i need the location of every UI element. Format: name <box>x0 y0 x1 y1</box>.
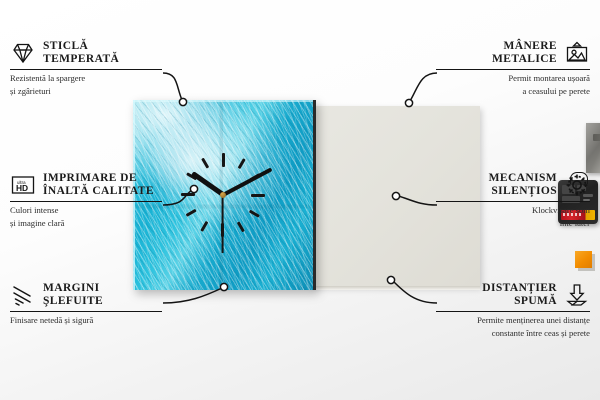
connector-hangers <box>410 73 437 101</box>
feature-rule <box>436 69 590 70</box>
feature-title-line2: METALICE <box>492 53 557 66</box>
feature-sub-line2: și imagine clară <box>10 218 162 228</box>
diamond-icon <box>10 40 36 66</box>
ultra-hd-icon: ultra HD <box>10 172 36 198</box>
feature-sub-line1: Finisare netedă și sigură <box>10 315 162 325</box>
feature-glass: STICLĂ TEMPERATĂ Rezistentă la spargere … <box>10 40 162 97</box>
feature-title-line2: ŞLEFUITE <box>43 295 103 308</box>
feature-title-line1: DISTANȚIER <box>482 282 557 295</box>
product-composite <box>120 100 480 295</box>
feature-spacer: DISTANȚIER SPUMĂ Permite menținerea unei… <box>436 282 590 339</box>
feature-sub-line1: Culori intense <box>10 205 162 215</box>
hanger-sheen <box>586 123 600 173</box>
down-arrow-pad-icon <box>564 282 590 308</box>
feature-mechanism: MECANISM SILENȚIOS Klockvisare som inte … <box>436 172 590 229</box>
feature-rule <box>436 201 590 202</box>
connector-glass <box>163 73 182 100</box>
feature-rule <box>436 311 590 312</box>
feature-print: ultra HD IMPRIMARE DE ÎNALTĂ CALITATE Cu… <box>10 172 162 229</box>
infographic-canvas: STICLĂ TEMPERATĂ Rezistentă la spargere … <box>0 0 600 400</box>
picture-hanger-icon <box>564 40 590 66</box>
feature-sub-line2: și zgârieturi <box>10 86 162 96</box>
feature-sub-line2: constante între ceas și perete <box>436 328 590 338</box>
svg-text:HD: HD <box>16 183 28 193</box>
feature-title-line2: SPUMĂ <box>482 295 557 308</box>
feature-rule <box>10 69 162 70</box>
feature-title-line1: IMPRIMARE DE <box>43 172 154 185</box>
feature-sub-line2: a ceasului pe perete <box>436 86 590 96</box>
feature-sub-line1: Permite menținerea unei distanțe <box>436 315 590 325</box>
clock-center-pin <box>220 192 226 198</box>
feature-title-line1: MÂNERE <box>492 40 557 53</box>
metal-hanger-plate <box>586 123 600 173</box>
feature-sub-line1: Rezistentă la spargere <box>10 73 162 83</box>
feature-title-line1: MARGINI <box>43 282 103 295</box>
orange-foam-spacer <box>575 251 592 268</box>
feature-title-line1: STICLĂ <box>43 40 119 53</box>
feature-hangers: MÂNERE METALICE Permit montarea ușoară a… <box>436 40 590 97</box>
feature-sub-line1: Klockvisare som <box>436 205 590 215</box>
feature-rule <box>10 311 162 312</box>
feature-rule <box>10 201 162 202</box>
second-hand <box>222 195 224 253</box>
gear-icon <box>564 172 590 198</box>
polished-edge-icon <box>10 282 36 308</box>
feature-edges: MARGINI ŞLEFUITE Finisare netedă și sigu… <box>10 282 162 325</box>
hanger-slot <box>593 134 600 141</box>
feature-title-line2: ÎNALTĂ CALITATE <box>43 185 154 198</box>
feature-sub-line1: Permit montarea ușoară <box>436 73 590 83</box>
feature-title-line2: TEMPERATĂ <box>43 53 119 66</box>
feature-sub-line2: inte låter <box>436 218 590 228</box>
feature-title-line1: MECANISM <box>489 172 557 185</box>
feature-title-line2: SILENȚIOS <box>489 185 557 198</box>
